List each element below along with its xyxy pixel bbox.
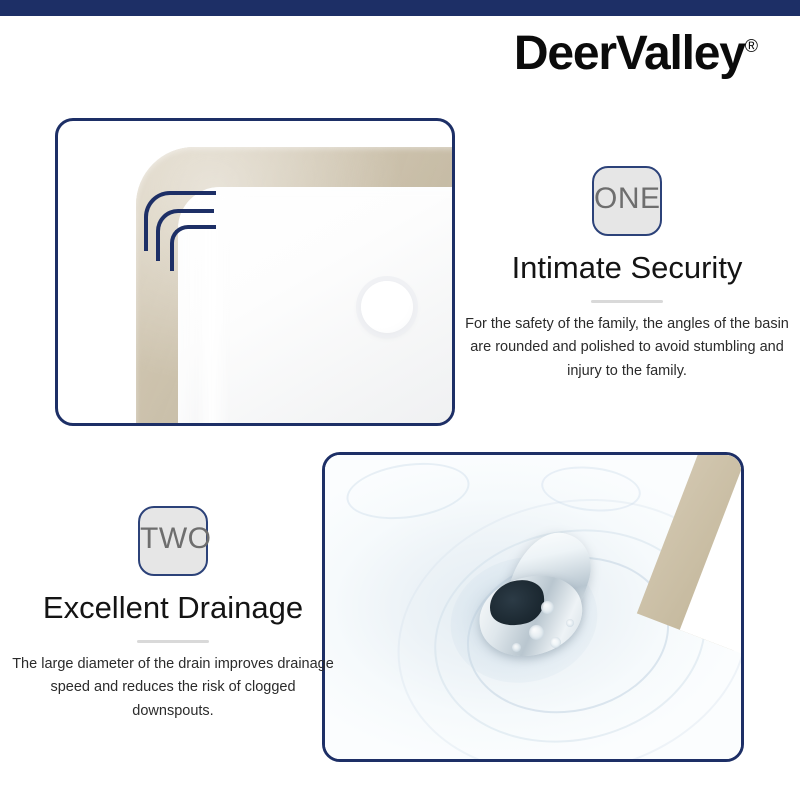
- feature-badge-two: TWO: [138, 506, 208, 576]
- feature-divider-one: [591, 300, 663, 303]
- water-bubble: [550, 637, 561, 648]
- feature-block-one: ONE Intimate Security For the safety of …: [462, 166, 792, 383]
- brand-name: DeerValley: [514, 27, 745, 80]
- brand-logo: DeerValley®: [514, 30, 758, 78]
- feature-title-one: Intimate Security: [462, 250, 792, 286]
- corner-radius-arc-inner: [170, 225, 216, 271]
- feature-description-one: For the safety of the family, the angles…: [462, 313, 792, 383]
- feature-divider-two: [137, 640, 209, 643]
- feature-badge-one: ONE: [592, 166, 662, 236]
- drain-water-photo-inner: [325, 455, 741, 759]
- top-accent-bar: [0, 0, 800, 16]
- basin-corner-photo-inner: [58, 121, 452, 423]
- drain-water-photo: [322, 452, 744, 762]
- registered-trademark-icon: ®: [745, 36, 758, 56]
- feature-block-two: TWO Excellent Drainage The large diamete…: [8, 506, 338, 723]
- basin-corner-photo: [55, 118, 455, 426]
- water-bubble: [529, 625, 544, 640]
- feature-title-two: Excellent Drainage: [8, 590, 338, 626]
- faucet-hole-icon: [361, 281, 413, 333]
- feature-description-two: The large diameter of the drain improves…: [8, 653, 338, 723]
